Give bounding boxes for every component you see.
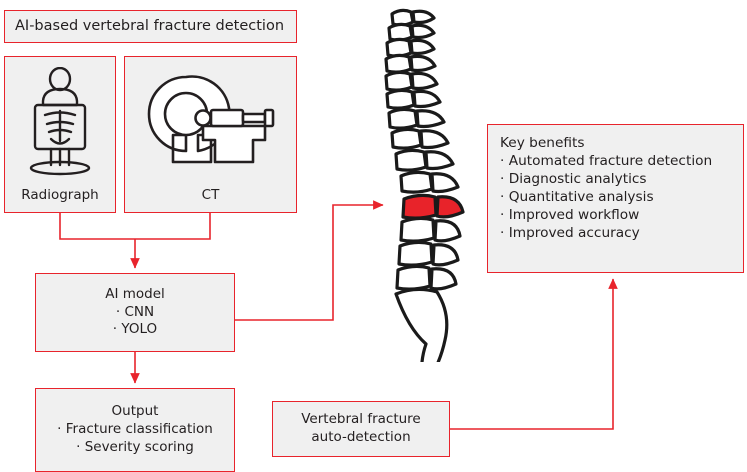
radiograph-icon-wrap bbox=[5, 57, 115, 187]
autodetect-line-1: Vertebral fracture bbox=[301, 411, 420, 429]
benefit-item-3: · Improved workflow bbox=[500, 206, 639, 224]
ai-model-box[interactable]: AI model · CNN · YOLO bbox=[35, 273, 235, 352]
output-box[interactable]: Output · Fracture classification · Sever… bbox=[35, 388, 235, 472]
output-title: Output bbox=[112, 403, 159, 421]
figure-canvas: AI-based vertebral fracture detection bbox=[0, 0, 747, 469]
fractured-vertebra-body bbox=[403, 195, 436, 218]
radiograph-xray-icon bbox=[17, 67, 103, 177]
ct-scanner-icon bbox=[141, 68, 281, 176]
ct-label: CT bbox=[202, 187, 220, 212]
sacrum-coccyx bbox=[396, 289, 447, 362]
inputs-merge-line bbox=[60, 213, 210, 239]
output-item-fracture-classification: · Fracture classification bbox=[57, 421, 213, 439]
figure-title-box: AI-based vertebral fracture detection bbox=[4, 10, 297, 43]
input-card-ct[interactable]: CT bbox=[124, 56, 297, 213]
radiograph-label: Radiograph bbox=[21, 187, 98, 212]
autodetect-line-2: auto-detection bbox=[311, 429, 410, 447]
key-benefits-title: Key benefits bbox=[500, 134, 585, 152]
ai-model-title: AI model bbox=[105, 286, 165, 304]
ai-model-item-cnn: · CNN bbox=[116, 304, 154, 322]
benefit-item-4: · Improved accuracy bbox=[500, 224, 640, 242]
benefit-item-1: · Diagnostic analytics bbox=[500, 170, 647, 188]
ai-model-item-yolo: · YOLO bbox=[113, 321, 157, 339]
page-title: AI-based vertebral fracture detection bbox=[15, 17, 284, 36]
fractured-vertebra-process bbox=[437, 197, 463, 217]
ct-icon-wrap bbox=[125, 57, 296, 187]
benefit-item-0: · Automated fracture detection bbox=[500, 152, 712, 170]
input-card-radiograph[interactable]: Radiograph bbox=[4, 56, 116, 213]
output-item-severity-scoring: · Severity scoring bbox=[76, 439, 194, 457]
key-benefits-box[interactable]: Key benefits · Automated fracture detect… bbox=[487, 124, 744, 273]
lateral-spine-illustration bbox=[352, 2, 502, 362]
benefit-item-2: · Quantitative analysis bbox=[500, 188, 654, 206]
vertebral-fracture-autodetection-box[interactable]: Vertebral fracture auto-detection bbox=[272, 401, 450, 457]
